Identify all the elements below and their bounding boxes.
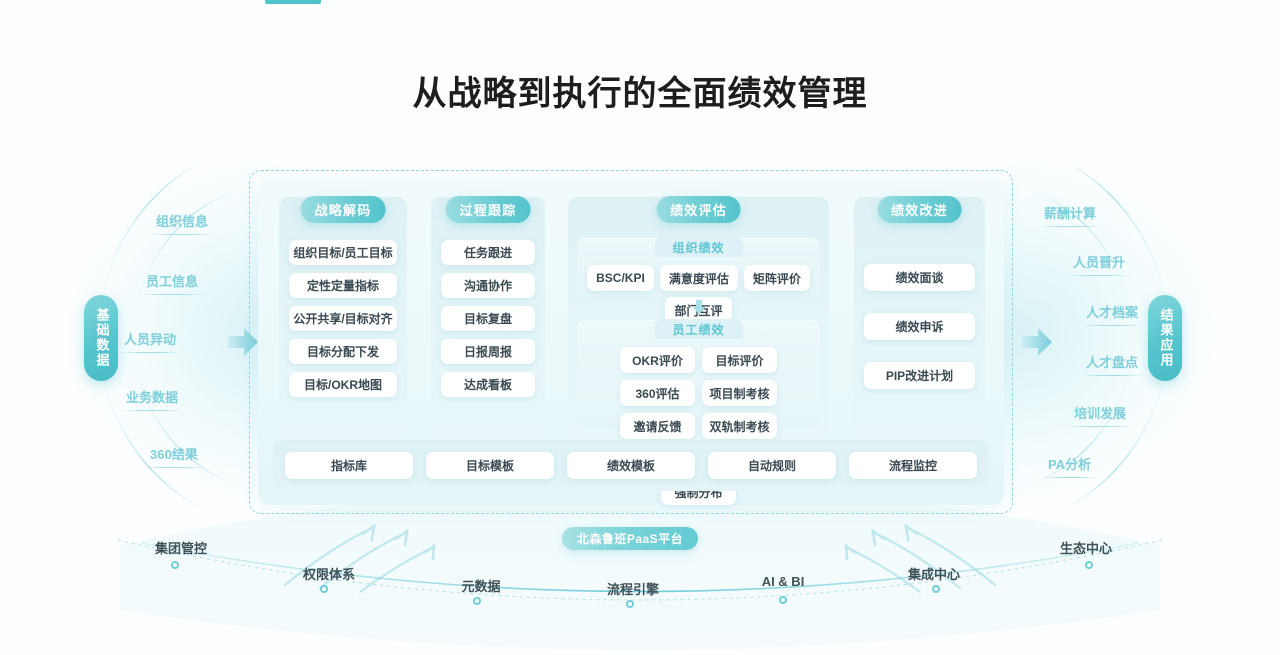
foundation-item-0[interactable]: 集团管控 [155, 538, 207, 557]
base-data-pill[interactable]: 基础数据 [84, 295, 118, 381]
foundation-dot-4 [779, 596, 787, 604]
result-application-pill-label: 结果应用 [1158, 308, 1173, 368]
foundation-dot-6 [1085, 561, 1093, 569]
chip-stage1-4[interactable]: 目标/OKR地图 [289, 372, 397, 397]
stage-process-tracking: 过程跟踪 任务跟进 沟通协作 目标复盘 日报周报 达成看板 [431, 196, 545, 439]
stage-2-title[interactable]: 过程跟踪 [446, 196, 531, 223]
subgroup-org-performance: 组织绩效 BSC/KPI 满意度评估 矩阵评价 部门互评 [577, 238, 820, 296]
flow-arrow-out [1022, 328, 1052, 356]
left-item-1[interactable]: 员工信息 [146, 271, 198, 295]
chip-stage4-1[interactable]: 绩效申诉 [864, 313, 975, 340]
right-item-4[interactable]: 培训发展 [1074, 403, 1126, 427]
foundation-item-4[interactable]: AI & BI [762, 574, 805, 589]
down-arrow-icon [691, 300, 707, 316]
chip-emp-3[interactable]: 项目制考核 [702, 380, 777, 406]
chip-capability-3[interactable]: 自动规则 [708, 452, 836, 479]
subgroup-emp-items: OKR评价 目标评价 360评估 项目制考核 邀请反馈 双轨制考核 一票否决 多… [577, 342, 820, 428]
chip-capability-0[interactable]: 指标库 [285, 452, 413, 479]
chip-org-1[interactable]: 满意度评估 [660, 265, 738, 291]
chip-stage4-0[interactable]: 绩效面谈 [864, 264, 975, 291]
chip-stage2-0[interactable]: 任务跟进 [441, 240, 535, 265]
subgroup-emp-title: 员工绩效 [654, 319, 742, 339]
chip-stage4-2[interactable]: PIP改进计划 [864, 362, 975, 389]
chip-emp-1[interactable]: 目标评价 [702, 347, 777, 373]
foundation-item-6[interactable]: 生态中心 [1060, 538, 1112, 557]
chip-org-0[interactable]: BSC/KPI [587, 265, 654, 291]
right-item-3[interactable]: 人才盘点 [1086, 352, 1138, 376]
chip-stage2-2[interactable]: 目标复盘 [441, 306, 535, 331]
foundation-dot-5 [932, 585, 940, 593]
chip-emp-2[interactable]: 360评估 [620, 380, 695, 406]
subgroup-org-title: 组织绩效 [654, 237, 742, 257]
stage-performance-evaluation: 绩效评估 组织绩效 BSC/KPI 满意度评估 矩阵评价 部门互评 员工绩效 O… [568, 196, 829, 439]
right-item-2[interactable]: 人才档案 [1086, 302, 1138, 326]
capability-row: 指标库 目标模板 绩效模板 自动规则 流程监控 [273, 440, 989, 491]
foundation-item-1[interactable]: 权限体系 [303, 564, 355, 583]
stage-4-title[interactable]: 绩效改进 [877, 196, 962, 223]
chip-stage2-3[interactable]: 日报周报 [441, 339, 535, 364]
chip-stage1-0[interactable]: 组织目标/员工目标 [289, 240, 397, 265]
chip-stage2-1[interactable]: 沟通协作 [441, 273, 535, 298]
infographic-root: 从战略到执行的全面绩效管理 [0, 0, 1280, 655]
stage-4-items: 绩效面谈 绩效申诉 PIP改进计划 [854, 234, 985, 439]
chip-stage1-2[interactable]: 公开共享/目标对齐 [289, 306, 397, 331]
stage-3-title[interactable]: 绩效评估 [656, 196, 741, 223]
left-item-2[interactable]: 人员异动 [124, 329, 176, 353]
stage-1-title[interactable]: 战略解码 [301, 196, 386, 223]
stage-2-items: 任务跟进 沟通协作 目标复盘 日报周报 达成看板 [431, 234, 545, 439]
left-item-4[interactable]: 360结果 [150, 444, 198, 468]
top-accent-bar [265, 0, 321, 4]
right-item-1[interactable]: 人员晋升 [1073, 252, 1125, 276]
chip-emp-5[interactable]: 双轨制考核 [702, 413, 777, 439]
chip-capability-1[interactable]: 目标模板 [426, 452, 554, 479]
stage-performance-improvement: 绩效改进 绩效面谈 绩效申诉 PIP改进计划 [854, 196, 985, 439]
foundation-item-5[interactable]: 集成中心 [908, 564, 960, 583]
chip-capability-4[interactable]: 流程监控 [849, 452, 977, 479]
chip-stage1-1[interactable]: 定性定量指标 [289, 273, 397, 298]
foundation-dot-2 [473, 597, 481, 605]
foundation-item-3[interactable]: 流程引擎 [607, 579, 659, 598]
right-item-0[interactable]: 薪酬计算 [1044, 203, 1096, 227]
left-item-0[interactable]: 组织信息 [156, 211, 208, 235]
foundation-item-2[interactable]: 元数据 [461, 576, 500, 595]
stage-1-items: 组织目标/员工目标 定性定量指标 公开共享/目标对齐 目标分配下发 目标/OKR… [279, 234, 407, 439]
chip-emp-0[interactable]: OKR评价 [620, 347, 695, 373]
paas-platform-pill[interactable]: 北森鲁班PaaS平台 [562, 527, 698, 550]
base-data-pill-label: 基础数据 [94, 308, 109, 368]
result-application-pill[interactable]: 结果应用 [1148, 295, 1182, 381]
chip-capability-2[interactable]: 绩效模板 [567, 452, 695, 479]
right-item-5[interactable]: PA分析 [1048, 454, 1091, 478]
chip-org-2[interactable]: 矩阵评价 [744, 265, 810, 291]
chip-stage1-3[interactable]: 目标分配下发 [289, 339, 397, 364]
subgroup-employee-performance: 员工绩效 OKR评价 目标评价 360评估 项目制考核 邀请反馈 双轨制考核 一… [577, 320, 820, 428]
foundation-dot-1 [320, 585, 328, 593]
left-item-3[interactable]: 业务数据 [126, 387, 178, 411]
chip-emp-4[interactable]: 邀请反馈 [620, 413, 695, 439]
subgroup-org-items: BSC/KPI 满意度评估 矩阵评价 部门互评 [577, 260, 820, 296]
page-title: 从战略到执行的全面绩效管理 [0, 66, 1280, 115]
chip-stage2-4[interactable]: 达成看板 [441, 372, 535, 397]
foundation-dot-0 [171, 561, 179, 569]
stage-strategy-decoding: 战略解码 组织目标/员工目标 定性定量指标 公开共享/目标对齐 目标分配下发 目… [279, 196, 407, 439]
foundation-dot-3 [626, 600, 634, 608]
